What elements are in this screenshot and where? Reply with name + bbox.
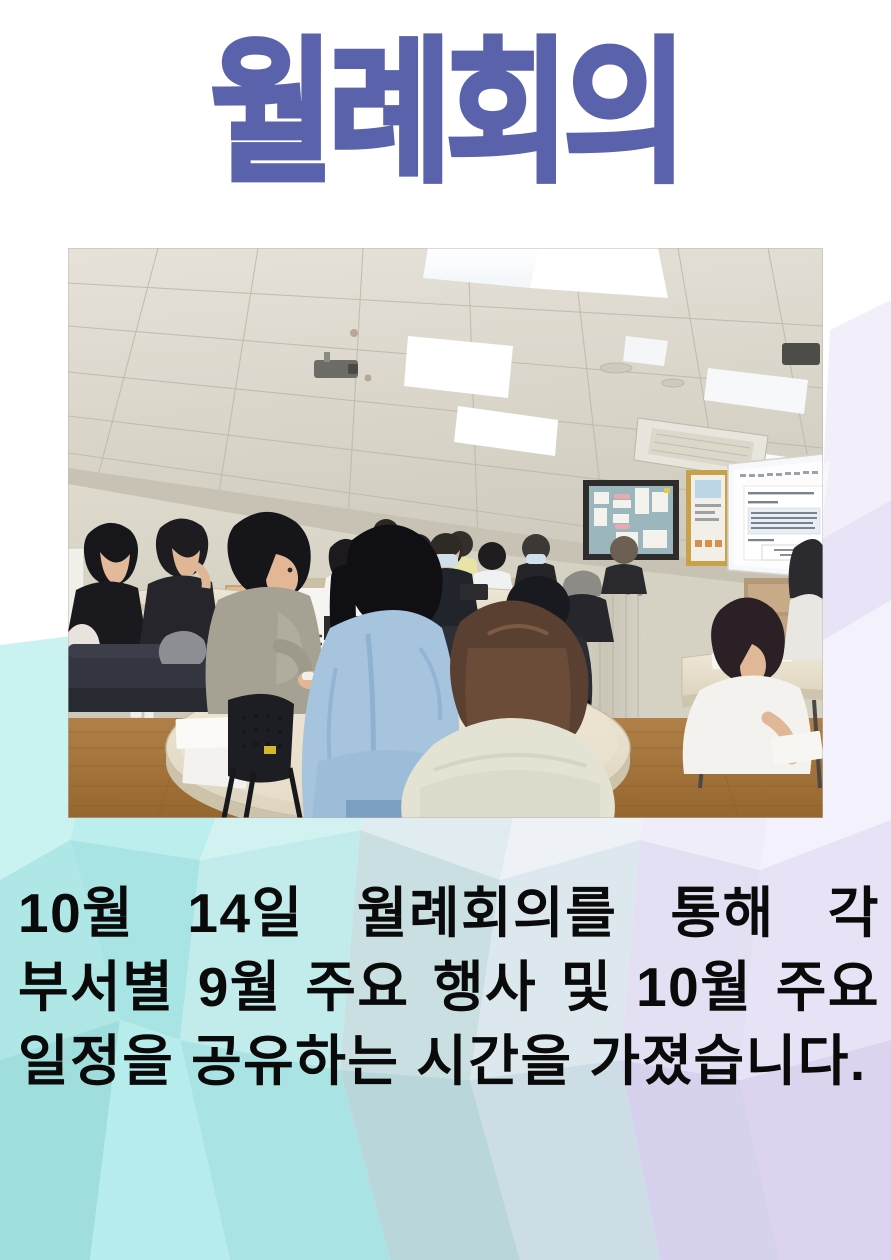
poster-title: 월례회의 [210, 36, 681, 192]
poster-caption: 10월 14일 월례회의를 통해 각 부서별 9월 주요 행사 및 10월 주요… [18, 876, 880, 1098]
meeting-photo [68, 248, 823, 818]
ceiling-projector-right [782, 343, 820, 365]
poster-title-container: 월례회의 [0, 36, 891, 168]
poster-root: 월례회의 [0, 0, 891, 1260]
meeting-photo-illustration [68, 248, 823, 818]
framed-notice [686, 470, 730, 566]
